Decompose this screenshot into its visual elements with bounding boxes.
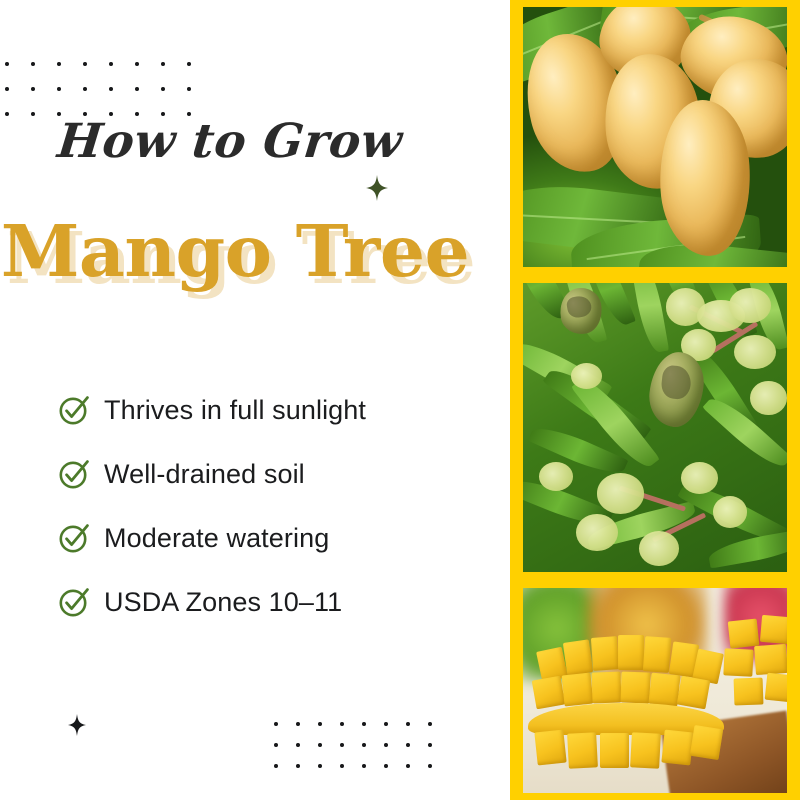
decorative-dot	[340, 743, 344, 747]
decorative-dot	[57, 87, 61, 91]
list-item-label: Moderate watering	[104, 523, 329, 554]
diced-mango-photo	[523, 588, 787, 793]
mango-tree-foliage-photo	[523, 283, 787, 572]
decorative-dot	[428, 743, 432, 747]
list-item: Well-drained soil	[58, 442, 488, 506]
decorative-dot	[274, 764, 278, 768]
decorative-dot	[109, 62, 113, 66]
dot-grid-bottom	[274, 722, 450, 785]
left-content-column: How to Grow Mango Tree Thrives in full s…	[0, 0, 510, 800]
feature-list: Thrives in full sunlight Well-drained so…	[58, 378, 488, 634]
check-circle-icon	[58, 522, 90, 554]
decorative-dot	[428, 722, 432, 726]
decorative-dot	[318, 743, 322, 747]
poster-canvas: How to Grow Mango Tree Thrives in full s…	[0, 0, 800, 800]
photo-column	[510, 0, 800, 800]
decorative-dot	[5, 87, 9, 91]
decorative-dot	[187, 87, 191, 91]
check-circle-icon	[58, 394, 90, 426]
decorative-dot	[5, 62, 9, 66]
decorative-dot	[296, 722, 300, 726]
decorative-dot	[31, 112, 35, 116]
decorative-dot	[135, 62, 139, 66]
decorative-dot	[384, 764, 388, 768]
decorative-dot	[274, 722, 278, 726]
decorative-dot	[406, 722, 410, 726]
decorative-dot	[362, 722, 366, 726]
decorative-dot	[406, 764, 410, 768]
decorative-dot	[340, 722, 344, 726]
ripe-mangoes-photo	[523, 7, 787, 267]
page-title: Mango Tree	[1, 216, 469, 287]
decorative-dot	[340, 764, 344, 768]
decorative-dot	[406, 743, 410, 747]
list-item: Thrives in full sunlight	[58, 378, 488, 442]
list-item-label: Well-drained soil	[104, 459, 305, 490]
decorative-dot	[5, 112, 9, 116]
decorative-dot	[384, 743, 388, 747]
decorative-dot	[362, 743, 366, 747]
decorative-dot	[31, 87, 35, 91]
check-circle-icon	[58, 586, 90, 618]
decorative-dot	[296, 743, 300, 747]
list-item-label: Thrives in full sunlight	[104, 395, 366, 426]
decorative-dot	[109, 87, 113, 91]
check-circle-icon	[58, 458, 90, 490]
decorative-dot	[135, 87, 139, 91]
list-item-label: USDA Zones 10–11	[104, 587, 342, 618]
decorative-dot	[83, 87, 87, 91]
decorative-dot	[187, 62, 191, 66]
decorative-dot	[57, 62, 61, 66]
four-point-star-icon	[68, 714, 86, 736]
decorative-dot	[161, 62, 165, 66]
list-item: USDA Zones 10–11	[58, 570, 488, 634]
decorative-dot	[318, 764, 322, 768]
decorative-dot	[318, 722, 322, 726]
decorative-dot	[428, 764, 432, 768]
decorative-dot	[83, 62, 87, 66]
list-item: Moderate watering	[58, 506, 488, 570]
four-point-star-icon	[366, 175, 388, 201]
decorative-dot	[296, 764, 300, 768]
page-title-wrap: Mango Tree	[0, 216, 470, 287]
decorative-dot	[384, 722, 388, 726]
decorative-dot	[274, 743, 278, 747]
decorative-dot	[362, 764, 366, 768]
decorative-dot	[161, 87, 165, 91]
decorative-dot	[31, 62, 35, 66]
page-eyebrow-title: How to Grow	[0, 118, 462, 165]
